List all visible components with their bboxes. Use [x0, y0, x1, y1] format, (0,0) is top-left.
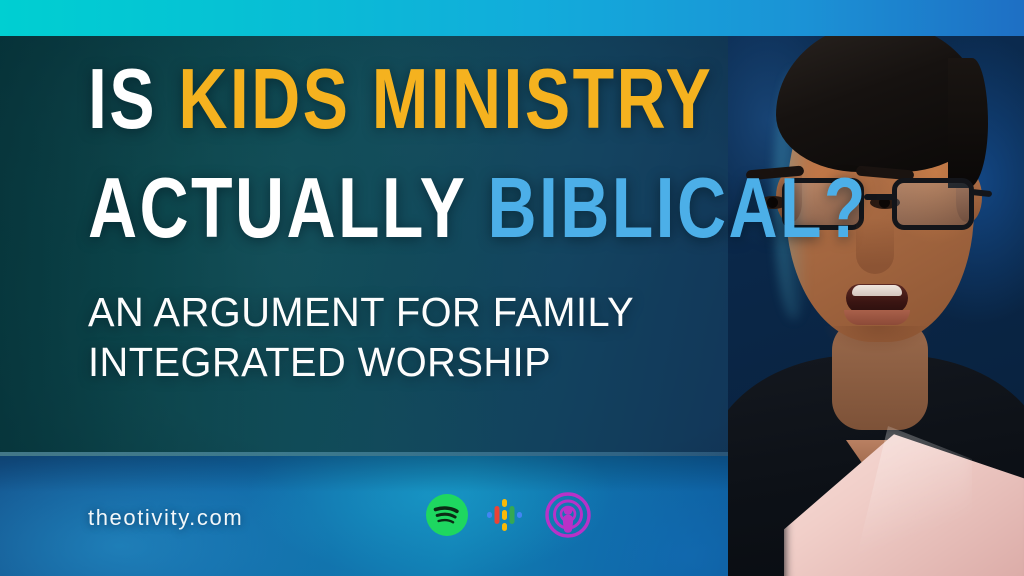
- site-url: theotivity.com: [88, 505, 243, 531]
- headline-line-1: IS KIDS MINISTRY: [88, 58, 696, 141]
- glasses-bridge: [864, 194, 896, 200]
- presenter-lower-lip: [844, 310, 910, 325]
- apple-podcasts-icon[interactable]: [545, 492, 591, 543]
- subtitle-line-1: AN ARGUMENT FOR FAMILY: [88, 287, 825, 338]
- headline-word-biblical: BIBLICAL?: [487, 161, 867, 256]
- presenter-teeth: [852, 285, 902, 296]
- headline-word-is: IS: [88, 52, 157, 147]
- headline-word-kids-ministry: KIDS MINISTRY: [178, 52, 713, 147]
- top-accent-strip: [0, 0, 1024, 36]
- glasses-lens-right: [892, 178, 974, 230]
- spotify-icon[interactable]: [425, 493, 469, 542]
- title-block: IS KIDS MINISTRY ACTUALLY BIBLICAL? AN A…: [88, 58, 848, 388]
- headline-line-2: ACTUALLY BIBLICAL?: [88, 167, 696, 250]
- headline-word-actually: ACTUALLY: [88, 161, 466, 256]
- google-podcasts-icon[interactable]: [485, 493, 529, 542]
- video-thumbnail: Be IS KIDS MINISTRY ACTUALLY BIBLICAL? A…: [0, 0, 1024, 576]
- subtitle-line-2: INTEGRATED WORSHIP: [88, 337, 825, 388]
- platform-icon-row: [425, 492, 591, 543]
